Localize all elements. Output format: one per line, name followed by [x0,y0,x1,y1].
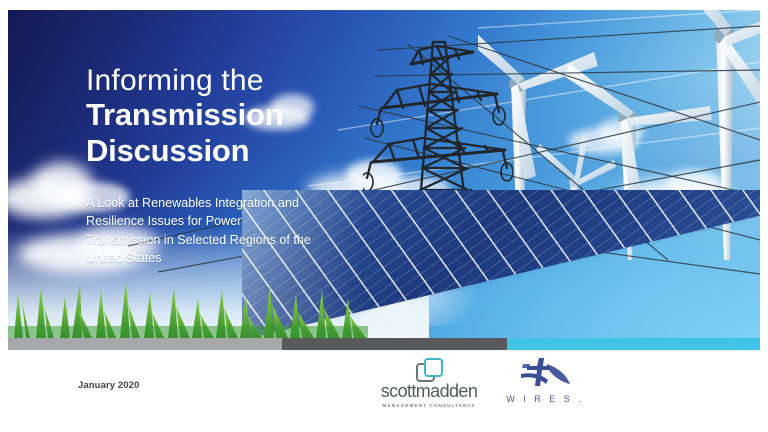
color-bar-segment-cyan [507,338,760,350]
scottmadden-wordmark: scottmadden [373,382,485,400]
footer: January 2020 scottmadden MANAGEMENT CONS… [0,350,768,432]
wires-wordmark: W I R E S . [505,394,585,404]
grass-field [8,276,368,338]
wires-logo: W I R E S . [505,356,585,404]
accent-color-bar [8,338,760,350]
overlapping-rounded-squares-icon [416,358,442,380]
title-slide: Informing the Transmission Discussion A … [0,0,768,432]
subtitle: A Look at Renewables Integration and Res… [86,194,318,268]
title-line-1: Informing the [86,65,386,97]
scottmadden-tagline: MANAGEMENT CONSULTANTS [373,403,485,408]
title-block: Informing the Transmission Discussion [86,65,386,170]
hero-image: Informing the Transmission Discussion A … [8,10,760,338]
title-line-2: Transmission [86,97,386,134]
scottmadden-logo: scottmadden MANAGEMENT CONSULTANTS [373,358,485,408]
color-bar-segment-dark-gray [282,338,507,350]
color-bar-segment-light-gray [8,338,282,350]
wires-emblem-icon [517,356,573,388]
date-label: January 2020 [78,380,139,391]
title-line-3: Discussion [86,133,386,170]
